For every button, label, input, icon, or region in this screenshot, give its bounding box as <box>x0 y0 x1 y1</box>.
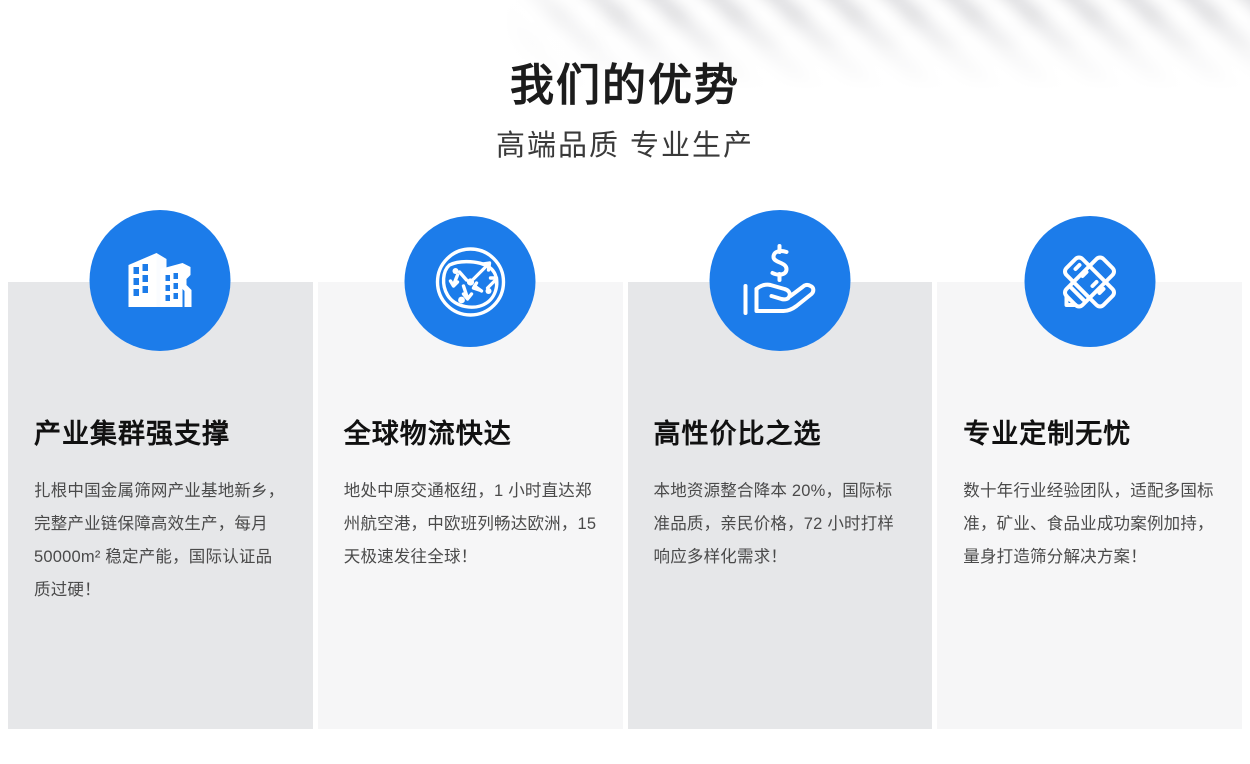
advantage-card-title: 全球物流快达 <box>344 418 597 452</box>
advantage-card-title: 产业集群强支撑 <box>34 418 287 452</box>
advantage-card[interactable]: 产业集群强支撑 扎根中国金属筛网产业基地新乡，完整产业链保障高效生产，每月 50… <box>8 282 313 729</box>
page-subtitle: 高端品质 专业生产 <box>0 129 1250 164</box>
buildings-icon <box>90 210 231 351</box>
advantage-card-description: 本地资源整合降本 20%，国际标准品质，亲民价格，72 小时打样响应多样化需求！ <box>654 475 907 574</box>
hand-dollar-icon <box>709 210 850 351</box>
globe-network-icon <box>405 216 536 347</box>
page-title: 我们的优势 <box>0 60 1250 113</box>
advantage-card[interactable]: 高性价比之选 本地资源整合降本 20%，国际标准品质，亲民价格，72 小时打样响… <box>628 282 933 729</box>
advantage-card-list: 产业集群强支撑 扎根中国金属筛网产业基地新乡，完整产业链保障高效生产，每月 50… <box>8 282 1242 729</box>
advantage-card-title: 专业定制无忧 <box>963 418 1216 452</box>
advantage-card[interactable]: 专业定制无忧 数十年行业经验团队，适配多国标准，矿业、食品业成功案例加持，量身打… <box>937 282 1242 729</box>
pencil-ruler-icon <box>1024 216 1155 347</box>
advantage-card-description: 扎根中国金属筛网产业基地新乡，完整产业链保障高效生产，每月 50000m² 稳定… <box>34 475 287 607</box>
advantage-card-title: 高性价比之选 <box>654 418 907 452</box>
advantage-card-description: 地处中原交通枢纽，1 小时直达郑州航空港，中欧班列畅达欧洲，15 天极速发往全球… <box>344 475 597 574</box>
advantage-card[interactable]: 全球物流快达 地处中原交通枢纽，1 小时直达郑州航空港，中欧班列畅达欧洲，15 … <box>318 282 623 729</box>
advantage-card-description: 数十年行业经验团队，适配多国标准，矿业、食品业成功案例加持，量身打造筛分解决方案… <box>963 475 1216 574</box>
advantages-section: 我们的优势 高端品质 专业生产 <box>0 0 1250 764</box>
section-heading: 我们的优势 高端品质 专业生产 <box>0 60 1250 164</box>
